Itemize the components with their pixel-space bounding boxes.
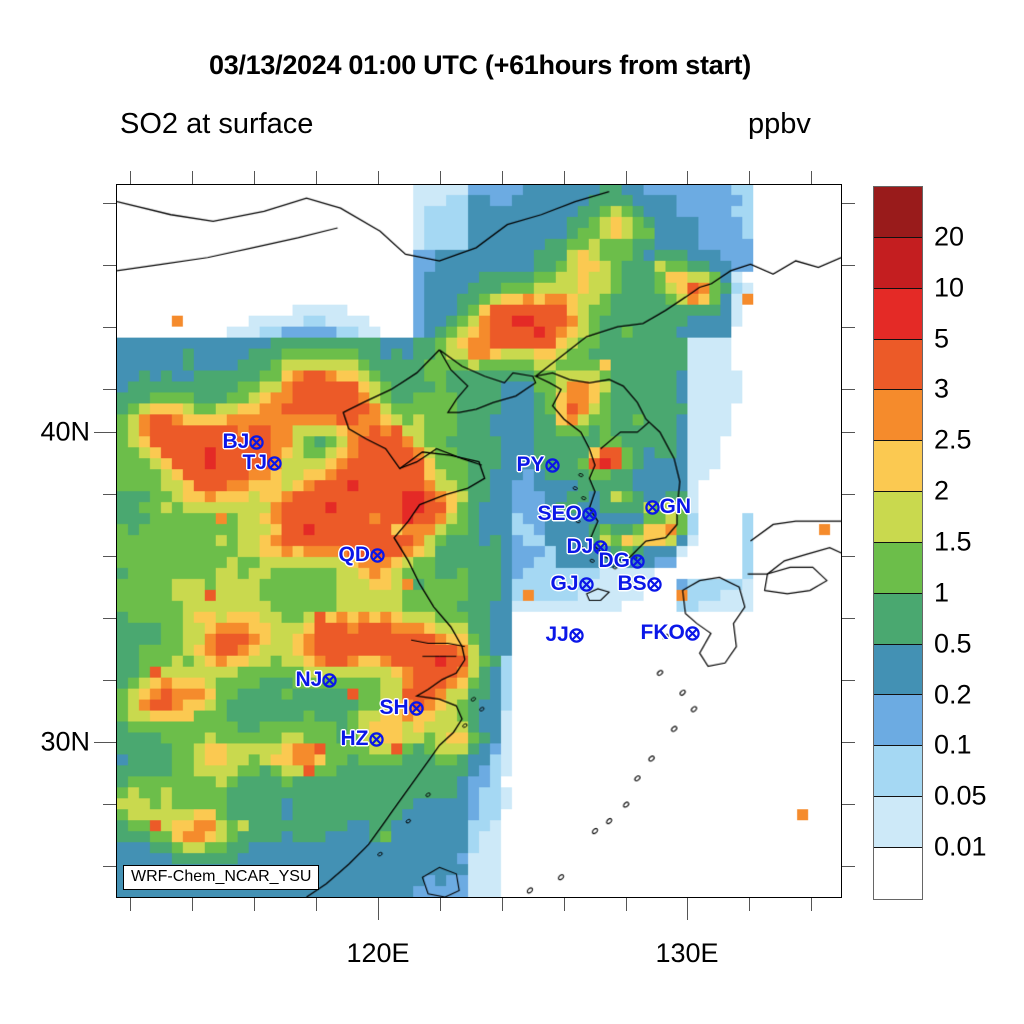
axis-tick bbox=[842, 804, 855, 805]
colorbar-band bbox=[874, 289, 922, 340]
colorbar-band bbox=[874, 695, 922, 746]
axis-tick bbox=[502, 898, 503, 911]
axis-tick bbox=[378, 898, 379, 920]
axis-tick bbox=[316, 898, 317, 911]
axis-tick bbox=[687, 898, 688, 920]
colorbar-band bbox=[874, 340, 922, 391]
axis-tick bbox=[254, 898, 255, 911]
axis-tick bbox=[440, 898, 441, 911]
axis-tick bbox=[316, 171, 317, 184]
colorbar-band bbox=[874, 390, 922, 441]
axis-tick bbox=[749, 171, 750, 184]
axis-tick bbox=[811, 171, 812, 184]
axis-tick bbox=[842, 203, 855, 204]
axis-tick bbox=[842, 680, 855, 681]
colorbar-tick-label: 0.5 bbox=[934, 628, 972, 659]
axis-tick bbox=[103, 203, 116, 204]
model-attribution-tag: WRF-Chem_NCAR_YSU bbox=[123, 865, 319, 890]
colorbar-band bbox=[874, 543, 922, 594]
axis-tick bbox=[687, 171, 688, 184]
axis-tick bbox=[842, 327, 855, 328]
colorbar-tick-label: 0.1 bbox=[934, 730, 972, 761]
axis-tick bbox=[626, 898, 627, 911]
axis-tick bbox=[749, 898, 750, 911]
colorbar-tick-label: 3 bbox=[934, 374, 949, 405]
colorbar-tick-label: 0.01 bbox=[934, 832, 987, 863]
y-axis-label: 30N bbox=[18, 727, 90, 758]
colorbar-tick-label: 5 bbox=[934, 323, 949, 354]
axis-tick bbox=[842, 618, 855, 619]
axis-tick bbox=[842, 742, 855, 743]
axis-tick bbox=[564, 898, 565, 911]
y-axis-label: 40N bbox=[18, 417, 90, 448]
axis-tick bbox=[842, 389, 855, 390]
axis-tick bbox=[842, 265, 855, 266]
colorbar-band bbox=[874, 594, 922, 645]
page-title: 03/13/2024 01:00 UTC (+61hours from star… bbox=[0, 50, 960, 81]
axis-tick bbox=[103, 494, 116, 495]
colorbar[interactable] bbox=[873, 186, 923, 900]
axis-tick bbox=[254, 171, 255, 184]
axis-tick bbox=[94, 742, 116, 743]
colorbar-band bbox=[874, 187, 922, 238]
colorbar-tick-label: 2.5 bbox=[934, 425, 972, 456]
colorbar-band bbox=[874, 746, 922, 797]
colorbar-tick-label: 20 bbox=[934, 221, 964, 252]
axis-tick bbox=[626, 171, 627, 184]
axis-tick bbox=[842, 494, 855, 495]
axis-tick bbox=[192, 171, 193, 184]
axis-tick bbox=[103, 265, 116, 266]
axis-tick bbox=[842, 432, 855, 433]
map-plot[interactable]: BJTJQDNJSHHZPYSEOGNDJDGGJBSJJFKO WRF-Che… bbox=[116, 184, 842, 898]
axis-tick bbox=[103, 618, 116, 619]
colorbar-band bbox=[874, 797, 922, 848]
axis-tick bbox=[378, 171, 379, 184]
colorbar-tick-label: 10 bbox=[934, 272, 964, 303]
axis-tick bbox=[103, 866, 116, 867]
axis-tick bbox=[440, 171, 441, 184]
colorbar-tick-label: 0.05 bbox=[934, 781, 987, 812]
axis-tick bbox=[130, 171, 131, 184]
colorbar-band bbox=[874, 645, 922, 696]
colorbar-band bbox=[874, 441, 922, 492]
colorbar-tick-label: 1.5 bbox=[934, 527, 972, 558]
axis-tick bbox=[564, 171, 565, 184]
so2-concentration-field bbox=[117, 185, 841, 897]
variable-label: SO2 at surface bbox=[120, 108, 313, 141]
x-axis-label: 120E bbox=[346, 938, 409, 969]
axis-tick bbox=[103, 804, 116, 805]
colorbar-band bbox=[874, 848, 922, 899]
axis-tick bbox=[103, 556, 116, 557]
x-axis-label: 130E bbox=[655, 938, 718, 969]
axis-tick bbox=[842, 556, 855, 557]
colorbar-band bbox=[874, 238, 922, 289]
colorbar-band bbox=[874, 492, 922, 543]
axis-tick bbox=[94, 432, 116, 433]
colorbar-tick-label: 0.2 bbox=[934, 679, 972, 710]
units-label: ppbv bbox=[748, 108, 811, 141]
axis-tick bbox=[192, 898, 193, 911]
axis-tick bbox=[103, 389, 116, 390]
axis-tick bbox=[103, 327, 116, 328]
colorbar-tick-label: 1 bbox=[934, 577, 949, 608]
axis-tick bbox=[103, 680, 116, 681]
colorbar-tick-label: 2 bbox=[934, 476, 949, 507]
axis-tick bbox=[842, 866, 855, 867]
axis-tick bbox=[811, 898, 812, 911]
axis-tick bbox=[502, 171, 503, 184]
axis-tick bbox=[130, 898, 131, 911]
